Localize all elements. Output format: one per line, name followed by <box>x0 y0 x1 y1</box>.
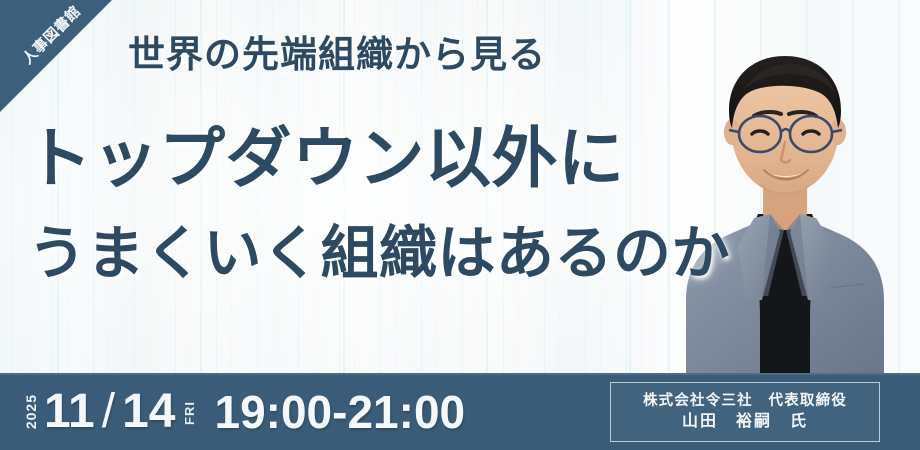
event-weekday: FRI <box>183 399 196 425</box>
banner-subtitle: 世界の先端組織から見る <box>128 36 546 73</box>
event-day: 14 <box>122 388 175 436</box>
banner-title-line-2: うまくいく組織はあるのか <box>28 224 730 282</box>
speaker-portrait <box>650 0 920 378</box>
bottom-info-bar: 2025 11 / 14 FRI 19:00-21:00 株式会社令三社 代表取… <box>0 373 920 450</box>
speaker-role: 株式会社令三社 代表取締役 <box>643 393 847 410</box>
speaker-name: 山田 裕嗣 氏 <box>682 412 808 430</box>
portrait-illustration <box>650 0 920 378</box>
event-time: 19:00-21:00 <box>214 389 465 435</box>
speaker-info-box: 株式会社令三社 代表取締役 山田 裕嗣 氏 <box>610 382 880 442</box>
event-month: 11 <box>44 388 95 436</box>
seminar-banner: 人事図書館 <box>0 0 920 450</box>
event-datetime: 2025 11 / 14 FRI 19:00-21:00 <box>24 373 465 450</box>
date-separator: / <box>101 388 116 436</box>
banner-title-line-1: トップダウン以外に <box>26 126 625 192</box>
corner-ribbon: 人事図書館 <box>0 0 112 112</box>
event-year: 2025 <box>24 393 38 429</box>
